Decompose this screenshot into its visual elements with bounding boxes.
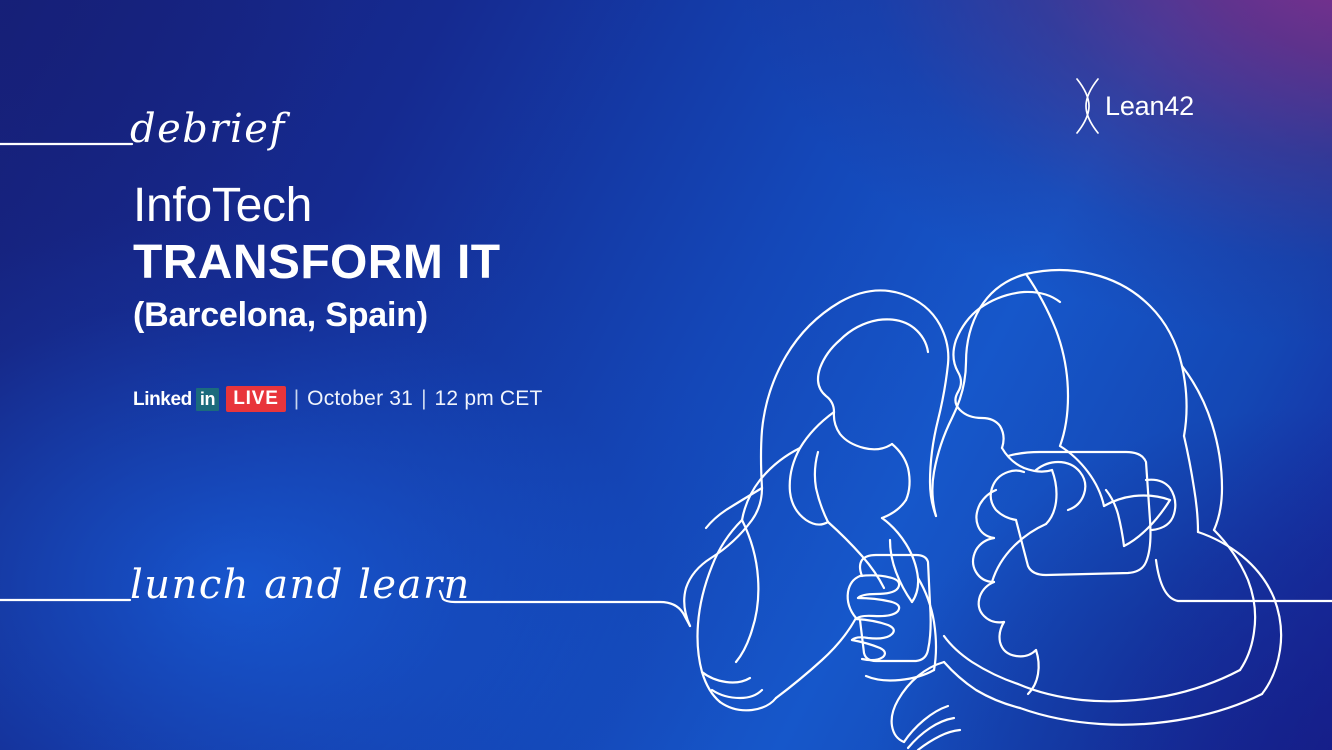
meta-separator-1: | — [294, 388, 299, 409]
headline-line-2: TRANSFORM IT — [133, 234, 500, 292]
double-arc-icon — [1068, 77, 1104, 135]
series-label-debrief: debrief — [130, 106, 286, 152]
lean42-wordmark: Lean42 — [1105, 93, 1194, 120]
live-badge: LIVE — [226, 386, 285, 412]
headline-block: InfoTech TRANSFORM IT (Barcelona, Spain) — [133, 178, 500, 338]
event-time: 12 pm CET — [435, 388, 543, 409]
headline-line-3: (Barcelona, Spain) — [133, 292, 500, 338]
headline-line-1: InfoTech — [133, 178, 500, 234]
linkedin-wordmark-text: Linked — [133, 390, 192, 409]
linkedin-in-box: in — [196, 388, 219, 411]
lean42-logo: Lean42 — [1068, 84, 1194, 128]
linkedin-live-badge: Linked in LIVE — [133, 387, 286, 411]
event-meta-row: Linked in LIVE | October 31 | 12 pm CET — [133, 386, 543, 412]
event-date: October 31 — [307, 388, 413, 409]
promo-banner: debrief lunch and learn InfoTech TRANSFO… — [0, 0, 1332, 750]
meta-separator-2: | — [421, 388, 426, 409]
format-label-lunch-and-learn: lunch and learn — [130, 562, 471, 608]
